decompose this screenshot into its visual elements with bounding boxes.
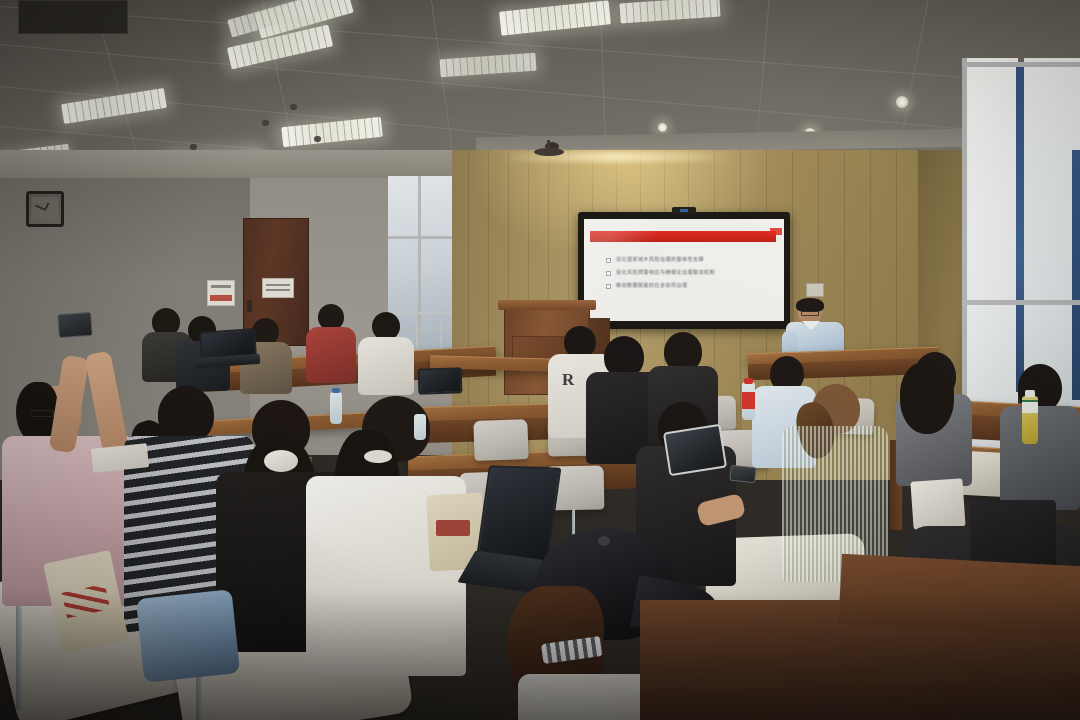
downlight — [658, 123, 667, 132]
sprinkler-head — [262, 120, 269, 126]
wall-notice-sign — [207, 280, 235, 306]
presentation-display[interactable]: 强化国家城乡风险治理的整体性支撑 强化风险预警响应与精细化治理联动机制 推动数据… — [578, 212, 790, 329]
list-item — [782, 380, 888, 580]
chair[interactable] — [473, 419, 528, 461]
smartphone[interactable] — [729, 465, 757, 484]
tablet[interactable] — [663, 424, 727, 477]
webcam-bar-icon — [672, 207, 696, 214]
eyeglasses-icon — [30, 410, 54, 417]
floor — [838, 554, 1080, 636]
lectern-top — [498, 300, 596, 310]
wall-clock-icon — [26, 191, 64, 227]
scrunchie — [264, 450, 298, 472]
cap-button — [598, 536, 610, 546]
list-item — [896, 352, 972, 482]
bottle-cap — [332, 388, 340, 393]
list-item — [306, 304, 356, 382]
downlight — [896, 96, 908, 108]
door-handle[interactable] — [247, 300, 252, 312]
window-head — [962, 62, 1080, 67]
tote-bag-logo — [436, 520, 470, 536]
laptop[interactable] — [418, 367, 463, 395]
air-vent — [18, 0, 128, 34]
torso — [358, 337, 414, 395]
bottle-cap — [744, 378, 753, 384]
ceiling-spotlight — [534, 148, 564, 156]
eyeglasses-icon — [801, 311, 819, 316]
hair — [900, 362, 954, 434]
window-frame-blue — [1072, 150, 1080, 400]
presenter-hair — [796, 298, 824, 312]
sprinkler-head — [290, 104, 297, 110]
denim-jacket — [136, 589, 240, 683]
head — [372, 312, 400, 340]
torso — [306, 327, 356, 383]
water-bottle[interactable] — [414, 414, 426, 440]
hair-tie — [364, 450, 392, 463]
water-bottle[interactable] — [330, 392, 342, 424]
door-room-plate — [262, 278, 294, 298]
screen-glare — [584, 219, 784, 321]
bottle-label-red — [742, 392, 755, 409]
bottle-cap — [1025, 390, 1035, 397]
list-item — [358, 312, 414, 394]
wall-control-panel[interactable] — [806, 283, 824, 297]
shirt-letter-print: R — [562, 370, 574, 390]
railing-post — [416, 312, 418, 354]
seminar-room-photograph: 强化国家城乡风险治理的整体性支撑 强化风险预警响应与精细化治理联动机制 推动数据… — [0, 0, 1080, 720]
list-item — [1000, 364, 1080, 504]
window-transom — [962, 300, 1080, 305]
sprinkler-head — [314, 136, 321, 142]
bottle-label-green — [1022, 400, 1038, 413]
smartphone[interactable] — [57, 312, 93, 338]
head — [252, 318, 279, 345]
